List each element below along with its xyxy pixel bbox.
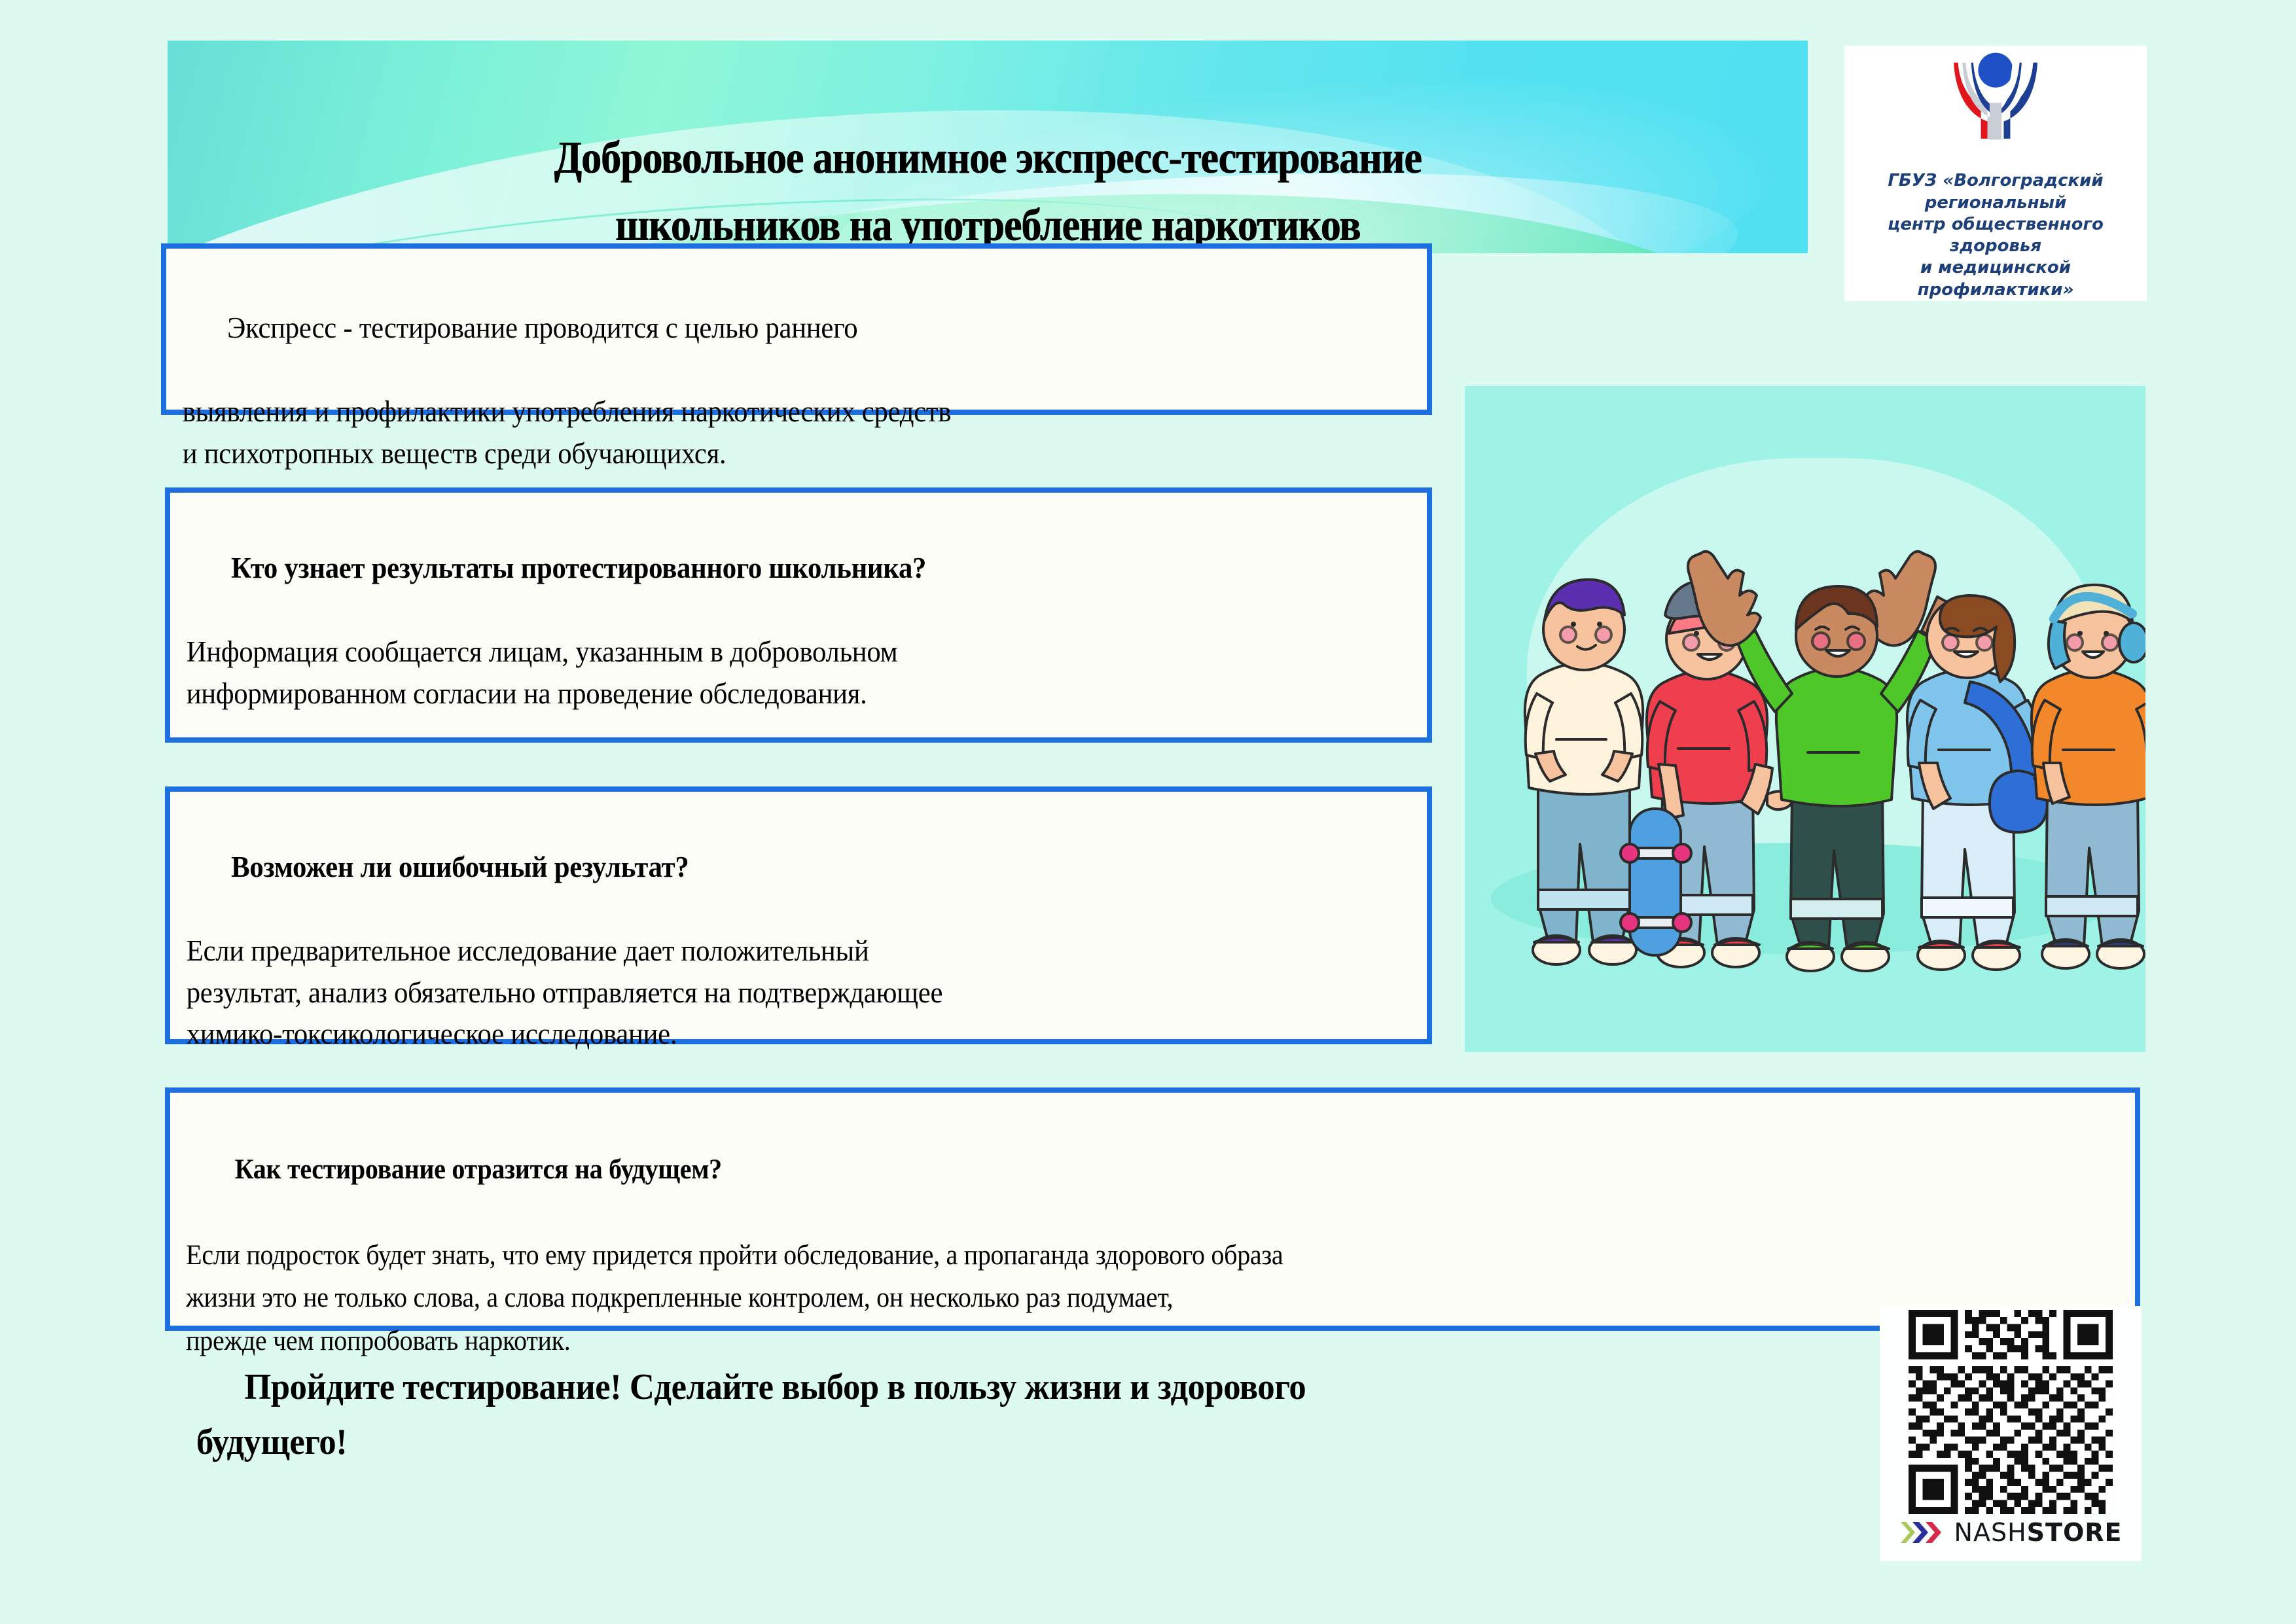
qr-code-panel[interactable]: NASHSTORE bbox=[1880, 1306, 2142, 1561]
teenagers-illustration-panel bbox=[1465, 386, 2145, 1052]
call-to-action-text: Пройдите тестирование! Сделайте выбор в … bbox=[196, 1360, 1722, 1470]
figure-boy-beanie-skateboard bbox=[1621, 580, 1792, 967]
info-box-future-impact: Как тестирование отразится на будущем? Е… bbox=[165, 1087, 2140, 1331]
purpose-lead: Экспресс - тестирование проводится с цел… bbox=[183, 308, 1348, 349]
info-box-who-learns-results: Кто узнает результаты протестированного … bbox=[165, 487, 1432, 743]
figure-boy-headphones bbox=[2032, 585, 2145, 968]
page-title: Добровольное анонимное экспресс-тестиров… bbox=[266, 41, 1709, 253]
info-box-purpose: Экспресс - тестирование проводится с цел… bbox=[161, 243, 1432, 415]
organization-name: ГБУЗ «Волгоградский региональный центр о… bbox=[1848, 170, 2143, 301]
info-box-false-result-text: Возможен ли ошибочный результат? Если пр… bbox=[170, 792, 1364, 1055]
false-result-body: Если предварительное исследование дает п… bbox=[187, 934, 942, 1051]
info-box-false-result: Возможен ли ошибочный результат? Если пр… bbox=[165, 786, 1432, 1044]
false-result-heading: Возможен ли ошибочный результат? bbox=[187, 847, 1348, 889]
who-learns-heading: Кто узнает результаты протестированного … bbox=[187, 548, 1348, 590]
nashstore-brand-bold: STORE bbox=[2027, 1518, 2123, 1547]
nashstore-brand-light: NASH bbox=[1954, 1518, 2027, 1547]
page-title-line-1: Добровольное анонимное экспресс-тестиров… bbox=[554, 133, 1421, 183]
nashstore-chevron-icon bbox=[1899, 1519, 1949, 1545]
figure-boy-purple-hair bbox=[1525, 580, 1643, 964]
nashstore-wordmark: NASHSTORE bbox=[1954, 1518, 2123, 1547]
teenagers-group-icon bbox=[1465, 386, 2145, 1052]
skateboard bbox=[1630, 809, 1681, 955]
nashstore-logo: NASHSTORE bbox=[1899, 1518, 2123, 1547]
info-box-purpose-text: Экспресс - тестирование проводится с цел… bbox=[166, 249, 1364, 474]
qr-code-icon[interactable] bbox=[1909, 1310, 2113, 1514]
purpose-body: выявления и профилактики употребления на… bbox=[183, 395, 951, 470]
who-learns-body: Информация сообщается лицам, указанным в… bbox=[187, 635, 898, 710]
info-box-who-learns-results-text: Кто узнает результаты протестированного … bbox=[170, 493, 1364, 715]
organization-logo: ГБУЗ «Волгоградский региональный центр о… bbox=[1844, 46, 2147, 301]
health-center-logo-icon bbox=[1920, 48, 2071, 169]
future-impact-body: Если подросток будет знать, что ему прид… bbox=[186, 1240, 1283, 1356]
future-impact-heading: Как тестирование отразится на будущем? bbox=[186, 1148, 1982, 1191]
poster-root: Добровольное анонимное экспресс-тестиров… bbox=[0, 0, 2296, 1624]
info-box-future-impact-text: Как тестирование отразится на будущем? Е… bbox=[170, 1093, 1998, 1362]
header-band: Добровольное анонимное экспресс-тестиров… bbox=[168, 41, 1808, 253]
